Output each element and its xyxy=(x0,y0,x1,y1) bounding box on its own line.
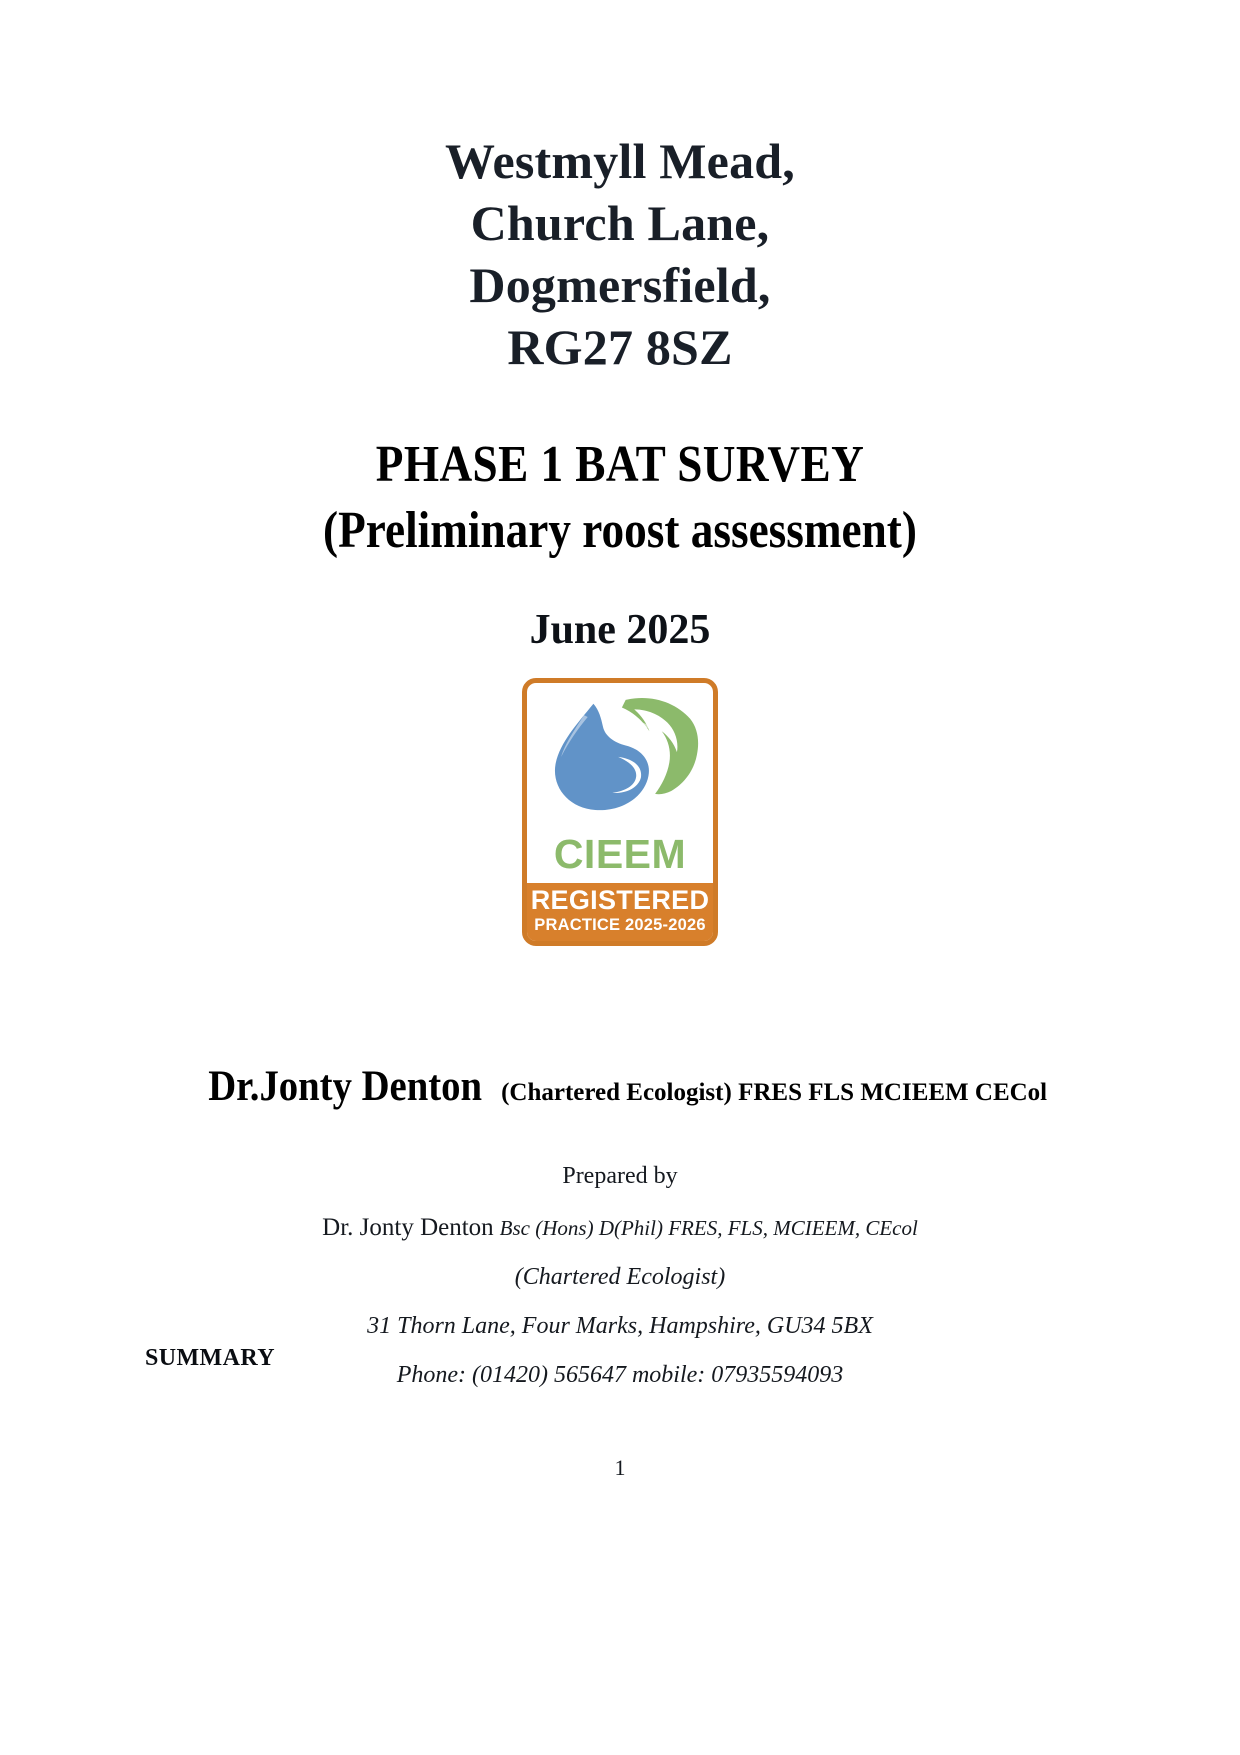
page-subtitle: (Preliminary roost assessment) xyxy=(81,498,1160,564)
report-date: June 2025 xyxy=(0,604,1240,656)
page-number: 1 xyxy=(0,1455,1240,1481)
prepared-by-chartered: (Chartered Ecologist) xyxy=(515,1264,725,1290)
address-line-2: Church Lane, xyxy=(0,192,1240,254)
address-line-4-postcode: RG27 8SZ xyxy=(0,316,1240,378)
address-line-1: Westmyll Mead, xyxy=(0,130,1240,192)
author-name: Dr.Jonty Denton xyxy=(208,1062,482,1111)
prepared-by-chartered-row: (Chartered Ecologist) xyxy=(0,1253,1240,1302)
prepared-by-address-row: 31 Thorn Lane, Four Marks, Hampshire, GU… xyxy=(0,1302,1240,1351)
logo-band-registered-text: REGISTERED xyxy=(531,886,710,914)
summary-section-heading: SUMMARY xyxy=(145,1345,275,1372)
leaf-droplet-icon xyxy=(527,683,713,825)
prepared-by-name-row: Dr. Jonty Denton Bsc (Hons) D(Phil) FRES… xyxy=(0,1203,1240,1253)
author-qualifications: (Chartered Ecologist) FRES FLS MCIEEM CE… xyxy=(501,1079,1047,1106)
logo-container: CIEEM REGISTERED PRACTICE 2025-2026 xyxy=(0,678,1240,946)
prepared-by-phone: Phone: (01420) 565647 mobile: 0793559409… xyxy=(397,1362,844,1388)
address-line-3: Dogmersfield, xyxy=(0,254,1240,316)
prepared-by-address: 31 Thorn Lane, Four Marks, Hampshire, GU… xyxy=(367,1313,873,1339)
prepared-by-credentials: Bsc (Hons) D(Phil) FRES, FLS, MCIEEM, CE… xyxy=(500,1216,918,1240)
logo-wordmark: CIEEM xyxy=(527,825,713,883)
logo-band-practice-years: PRACTICE 2025-2026 xyxy=(534,916,705,936)
cieem-registered-practice-logo: CIEEM REGISTERED PRACTICE 2025-2026 xyxy=(522,678,718,946)
main-heading-block: PHASE 1 BAT SURVEY (Preliminary roost as… xyxy=(0,432,1240,564)
logo-registered-band: REGISTERED PRACTICE 2025-2026 xyxy=(527,883,713,941)
address-title-block: Westmyll Mead, Church Lane, Dogmersfield… xyxy=(0,130,1240,378)
author-byline: Dr.Jonty Denton(Chartered Ecologist) FRE… xyxy=(0,1062,1240,1111)
prepared-by-label: Prepared by xyxy=(0,1152,1240,1201)
prepared-by-name: Dr. Jonty Denton xyxy=(322,1214,494,1241)
document-page: Westmyll Mead, Church Lane, Dogmersfield… xyxy=(0,0,1240,1755)
page-title: PHASE 1 BAT SURVEY xyxy=(81,432,1160,498)
